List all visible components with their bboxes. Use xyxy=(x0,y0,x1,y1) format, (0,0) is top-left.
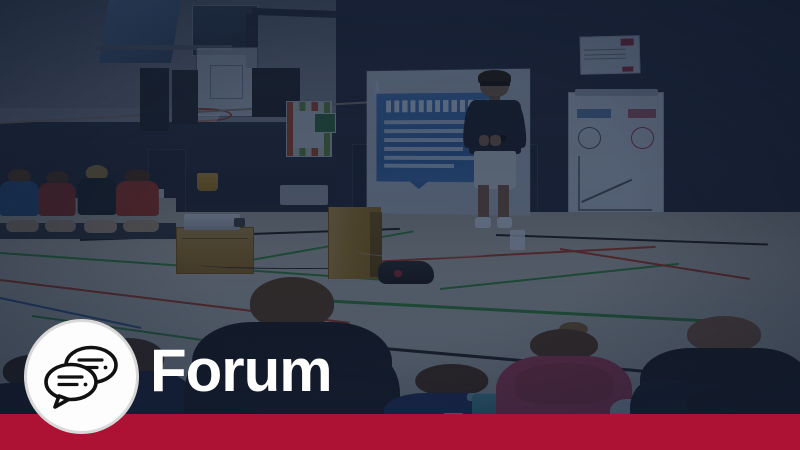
speech-bubbles-icon xyxy=(43,344,121,410)
bottom-accent-bar xyxy=(0,414,800,450)
forum-badge xyxy=(24,319,139,434)
page-title: Forum xyxy=(150,340,332,402)
forum-banner: Forum xyxy=(0,0,800,450)
